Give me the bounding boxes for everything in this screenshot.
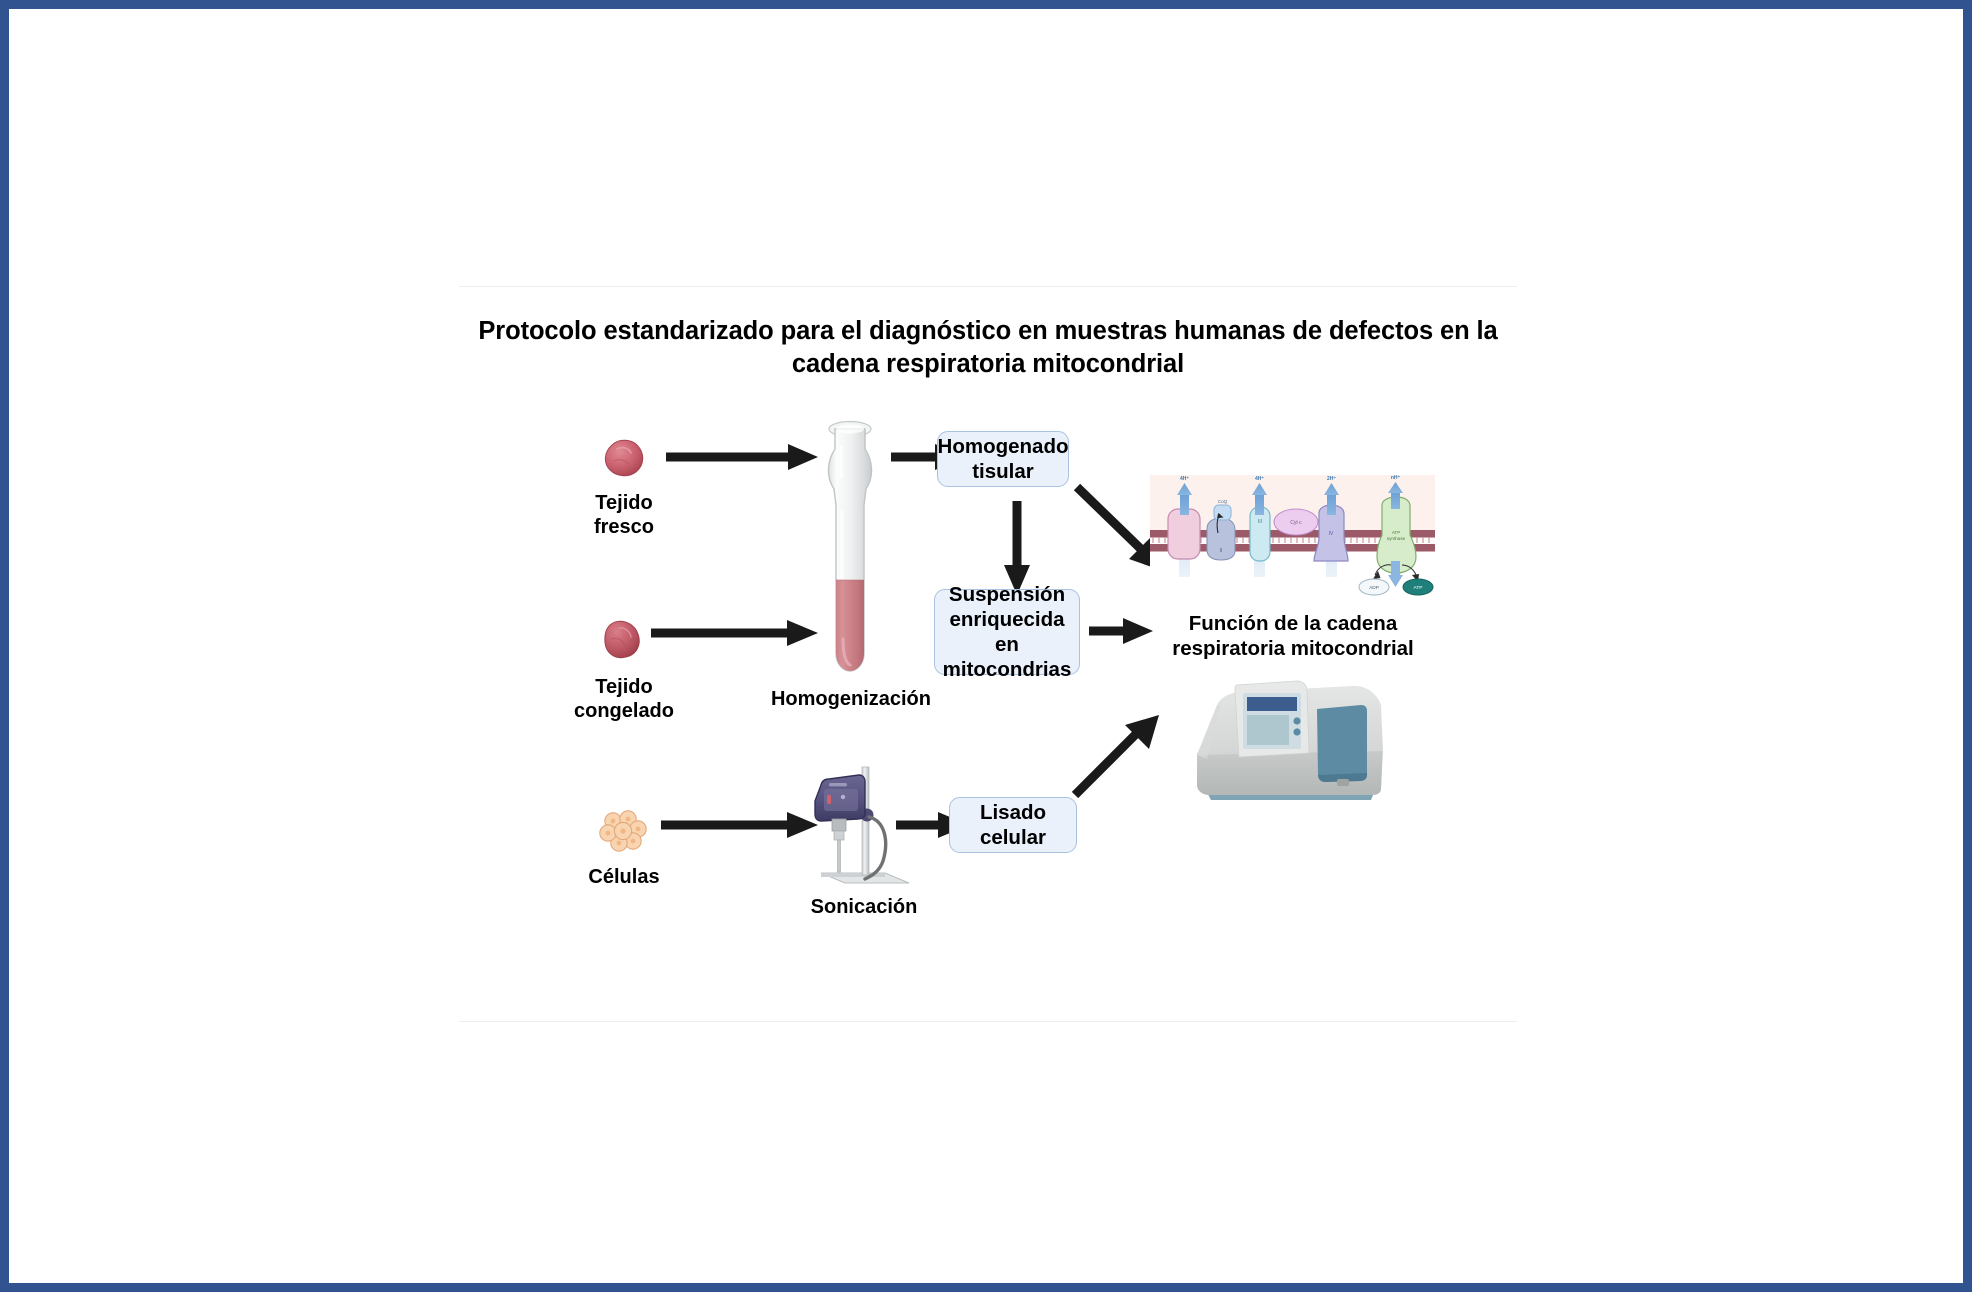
separator-rule-bottom xyxy=(459,1021,1517,1022)
equipment-label-sonication: Sonicación xyxy=(769,895,959,919)
figure-canvas: Protocolo estandarizado para el diagnóst… xyxy=(9,9,1963,1283)
svg-text:4H⁺: 4H⁺ xyxy=(1255,476,1264,482)
svg-text:nH⁺: nH⁺ xyxy=(1391,475,1401,481)
tissue-blob-icon xyxy=(599,437,647,479)
input-label-frozen-tissue: Tejido congelado xyxy=(541,675,707,724)
svg-text:IV: IV xyxy=(1329,531,1334,537)
arrow-frozen-to-homogenizer xyxy=(649,617,824,649)
svg-text:III: III xyxy=(1258,519,1262,525)
svg-text:Cyt c: Cyt c xyxy=(1290,520,1302,526)
cell-cluster-icon xyxy=(597,807,649,855)
svg-text:II: II xyxy=(1220,548,1223,554)
process-box-tissue-homogenate[interactable]: Homogenado tisular xyxy=(937,431,1069,487)
spectrophotometer-icon xyxy=(1185,669,1395,814)
input-label-fresh-tissue: Tejido fresco xyxy=(549,491,699,540)
process-box-mito-suspension[interactable]: Suspensión enriquecida en mitocondrias xyxy=(934,589,1080,675)
equipment-label-homogenization: Homogenización xyxy=(735,687,967,711)
output-caption: Función de la cadena respiratoria mitoco… xyxy=(1137,611,1449,661)
svg-text:ADP: ADP xyxy=(1369,585,1379,591)
svg-text:CoQ: CoQ xyxy=(1218,499,1228,504)
input-label-cells: Células xyxy=(554,865,694,889)
svg-text:synthase: synthase xyxy=(1387,536,1406,541)
dounce-homogenizer-icon xyxy=(814,417,886,679)
process-box-cell-lysate[interactable]: Lisado celular xyxy=(949,797,1077,853)
svg-text:ATP: ATP xyxy=(1414,585,1423,591)
separator-rule-top xyxy=(459,286,1517,287)
page-frame: Protocolo estandarizado para el diagnóst… xyxy=(0,0,1972,1292)
svg-text:4H⁺: 4H⁺ xyxy=(1180,476,1189,482)
svg-text:2H⁺: 2H⁺ xyxy=(1327,476,1336,482)
arrow-fresh-to-homogenizer xyxy=(664,441,824,473)
figure-title: Protocolo estandarizado para el diagnóst… xyxy=(459,315,1517,380)
svg-text:ATP: ATP xyxy=(1392,530,1401,535)
arrow-lysate-to-output xyxy=(1067,709,1177,809)
tissue-blob-icon xyxy=(599,617,647,661)
mitochondrial-etc-diagram: II CoQ III Cyt c IV ATP synthase xyxy=(1150,475,1435,597)
